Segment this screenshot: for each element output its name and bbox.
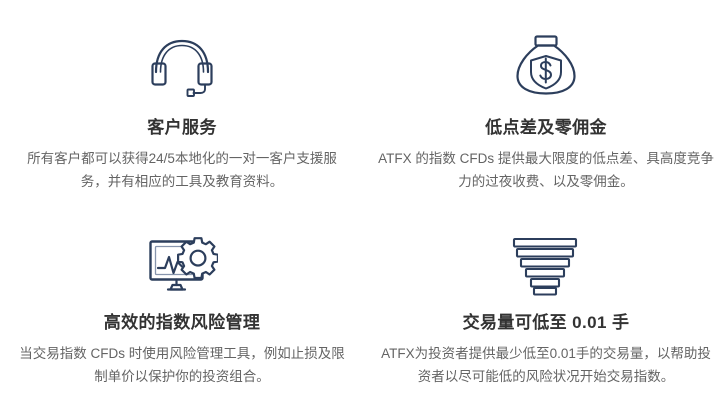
feature-card-customer-service: 客户服务 所有客户都可以获得24/5本地化的一对一客户支援服务，并有相应的工具及… <box>0 0 364 207</box>
monitor-gear-chart-icon <box>146 227 218 305</box>
feature-title: 交易量可低至 0.01 手 <box>463 313 630 333</box>
funnel-stack-icon <box>512 227 580 305</box>
feature-description: ATFX 的指数 CFDs 提供最大限度的低点差、具高度竞争力的过夜收费、以及零… <box>378 148 714 193</box>
feature-description: 所有客户都可以获得24/5本地化的一对一客户支援服务，并有相应的工具及教育资料。 <box>14 148 350 193</box>
feature-description: ATFX为投资者提供最少低至0.01手的交易量，以帮助投资者以尽可能低的风险状况… <box>378 343 714 388</box>
feature-title: 客户服务 <box>147 118 217 138</box>
feature-title: 高效的指数风险管理 <box>104 313 261 333</box>
feature-title: 低点差及零佣金 <box>485 118 607 138</box>
features-grid: 客户服务 所有客户都可以获得24/5本地化的一对一客户支援服务，并有相应的工具及… <box>0 0 728 413</box>
feature-description: 当交易指数 CFDs 时使用风险管理工具，例如止损及限制单价以保护你的投资组合。 <box>14 343 350 388</box>
headset-icon <box>146 22 218 108</box>
feature-card-lot-size: 交易量可低至 0.01 手 ATFX为投资者提供最少低至0.01手的交易量，以帮… <box>364 207 728 413</box>
feature-card-low-spread: 低点差及零佣金 ATFX 的指数 CFDs 提供最大限度的低点差、具高度竞争力的… <box>364 0 728 207</box>
money-bag-shield-icon <box>511 22 581 108</box>
feature-card-risk-management: 高效的指数风险管理 当交易指数 CFDs 时使用风险管理工具，例如止损及限制单价… <box>0 207 364 413</box>
